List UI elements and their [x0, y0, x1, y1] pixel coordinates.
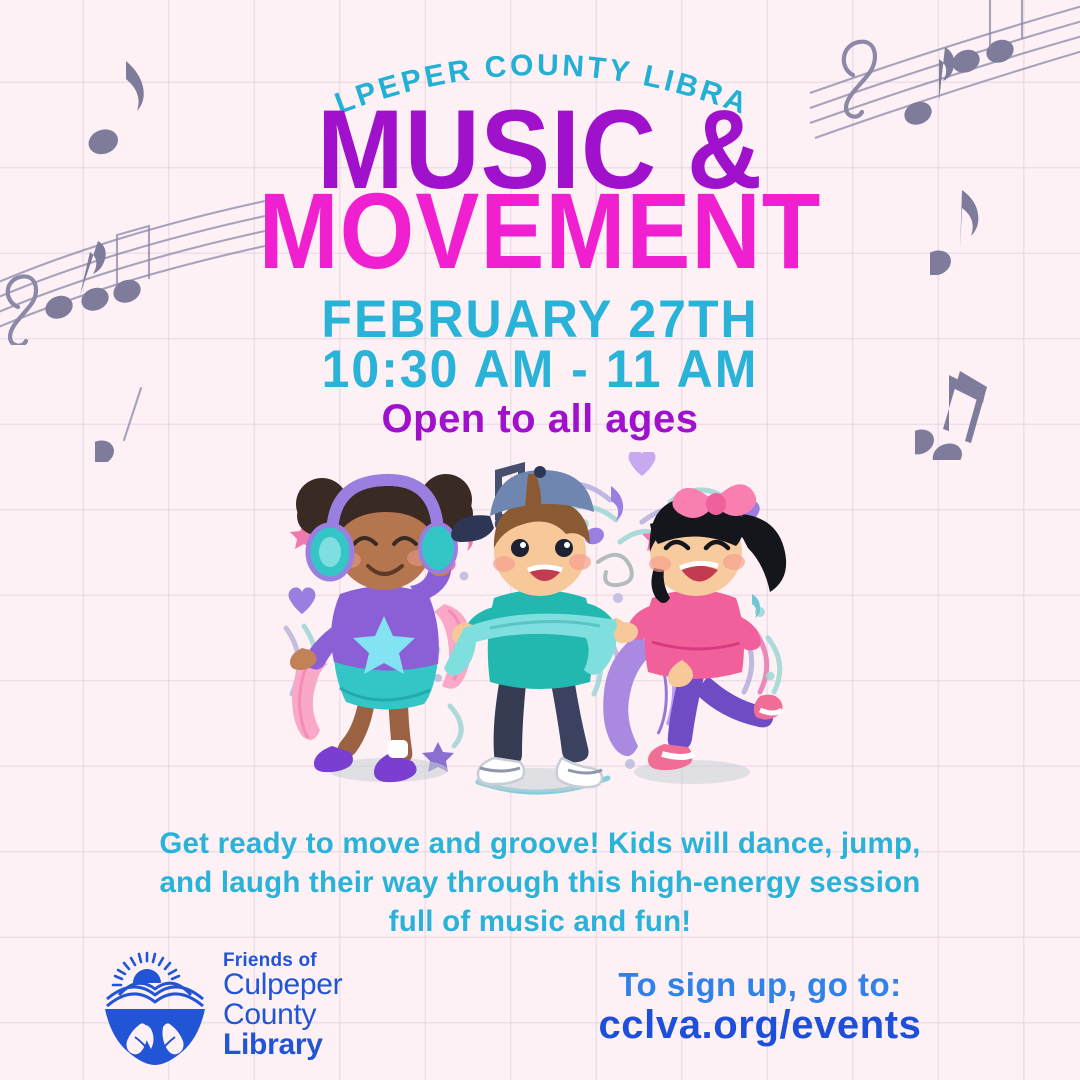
logo-line-2: Culpeper: [223, 970, 383, 1000]
logo-line-3: County: [223, 1000, 383, 1030]
logo-line-4: Library: [223, 1030, 383, 1060]
library-logo: Friends of Culpeper County Library: [95, 945, 380, 1070]
open-book-sun-hands-icon: [95, 947, 215, 1067]
signup-url[interactable]: cclva.org/events: [540, 1003, 980, 1048]
poster-canvas: CULPEPER COUNTY LIBRARY MUSIC & MOVEMENT…: [0, 0, 1080, 1080]
event-description: Get ready to move and groove! Kids will …: [150, 824, 930, 942]
signup-label: To sign up, go to:: [560, 966, 960, 1004]
logo-wordmark: Friends of Culpeper County Library: [223, 951, 383, 1060]
title-line-2: MOVEMENT: [0, 178, 1080, 286]
event-date: FEBRUARY 27TH: [0, 293, 1080, 346]
event-time: 10:30 AM - 11 AM: [0, 343, 1080, 396]
event-audience: Open to all ages: [0, 397, 1080, 442]
dancing-children-illustration: [268, 452, 813, 812]
